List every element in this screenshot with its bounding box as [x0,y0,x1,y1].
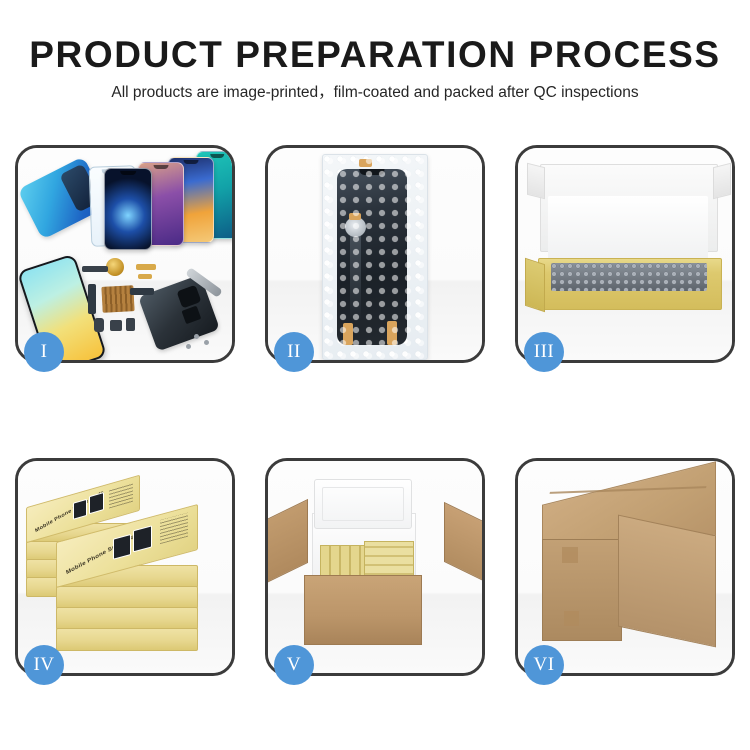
flex-cable-1 [88,284,96,314]
process-step-panel-1[interactable]: I [15,145,235,363]
wrapped-phone-screen [337,169,407,345]
box-spec-lines-front [160,513,188,545]
carton-left-face [542,539,622,641]
process-step-panel-4[interactable]: Mobile Phone Spare Parts Mobile Phone Sp… [15,458,235,676]
process-step-grid: I II [15,145,735,676]
step-badge-6: VI [524,645,564,685]
camera-module [345,217,366,237]
screw-1 [194,334,199,339]
stacked-box-front-2 [56,586,198,609]
small-component-2 [94,318,104,332]
shipping-carton-open [304,575,422,645]
foam-box-lid [314,479,412,529]
kraft-box-tray [538,258,722,310]
box-artwork-swatch-2 [89,492,104,514]
process-step-panel-6[interactable]: VI [515,458,735,676]
sealed-carton-scene [518,461,732,673]
screw-3 [186,344,191,349]
panel-4-image: Mobile Phone Spare Parts Mobile Phone Sp… [18,461,232,673]
speaker-coil-part [106,258,124,276]
gold-connector-2 [138,274,152,279]
carton-flap-left [268,499,308,591]
flex-cable-2 [130,288,154,295]
gold-connector-1 [136,264,156,270]
box-artwork-swatch-1 [73,499,87,520]
step-badge-3: III [524,332,564,372]
open-box-scene [518,148,732,360]
bubble-wrap-bag [322,154,428,360]
panel-3-image [518,148,732,360]
stacked-box-front-4 [56,628,198,651]
stacked-box-front-3 [56,607,198,630]
bubble-wrap-scene [268,148,482,360]
carton-right-face [618,515,716,648]
panel-5-image [268,461,482,673]
carton-tape-lower [564,611,579,626]
carton-tape-upper [562,547,578,563]
small-component-1 [82,266,108,272]
step-badge-4: IV [24,645,64,685]
process-step-panel-2[interactable]: II [265,145,485,363]
process-step-panel-5[interactable]: V [265,458,485,676]
panel-1-image [18,148,232,360]
bubble-packed-items [551,263,707,291]
process-step-panel-3[interactable]: III [515,145,735,363]
phone-parts-scene [18,148,232,360]
tape-tab-bottom-right [387,321,397,345]
panel-2-image [268,148,482,360]
page-subtitle: All products are image-printed，film-coat… [0,85,750,101]
tape-tab-mid [349,213,361,220]
page-header: PRODUCT PREPARATION PROCESS All products… [0,0,750,101]
page-title: PRODUCT PREPARATION PROCESS [0,36,750,73]
small-component-4 [126,318,135,331]
box-spec-lines-back [109,482,133,509]
step-badge-1: I [24,332,64,372]
carton-flap-right [444,502,482,588]
small-component-3 [110,320,122,331]
foam-sheet [548,196,708,262]
tape-tab-bottom-left [343,323,353,345]
carton-foam-scene [268,461,482,673]
step-badge-2: II [274,332,314,372]
screw-2 [204,340,209,345]
panel-6-image [518,461,732,673]
step-badge-5: V [274,645,314,685]
box-artwork-swatch-3 [113,534,131,560]
stacked-boxes-scene: Mobile Phone Spare Parts Mobile Phone Sp… [18,461,232,673]
phone-display-blue [104,168,152,250]
box-artwork-swatch-4 [133,525,152,552]
tape-tab-top [359,159,372,167]
